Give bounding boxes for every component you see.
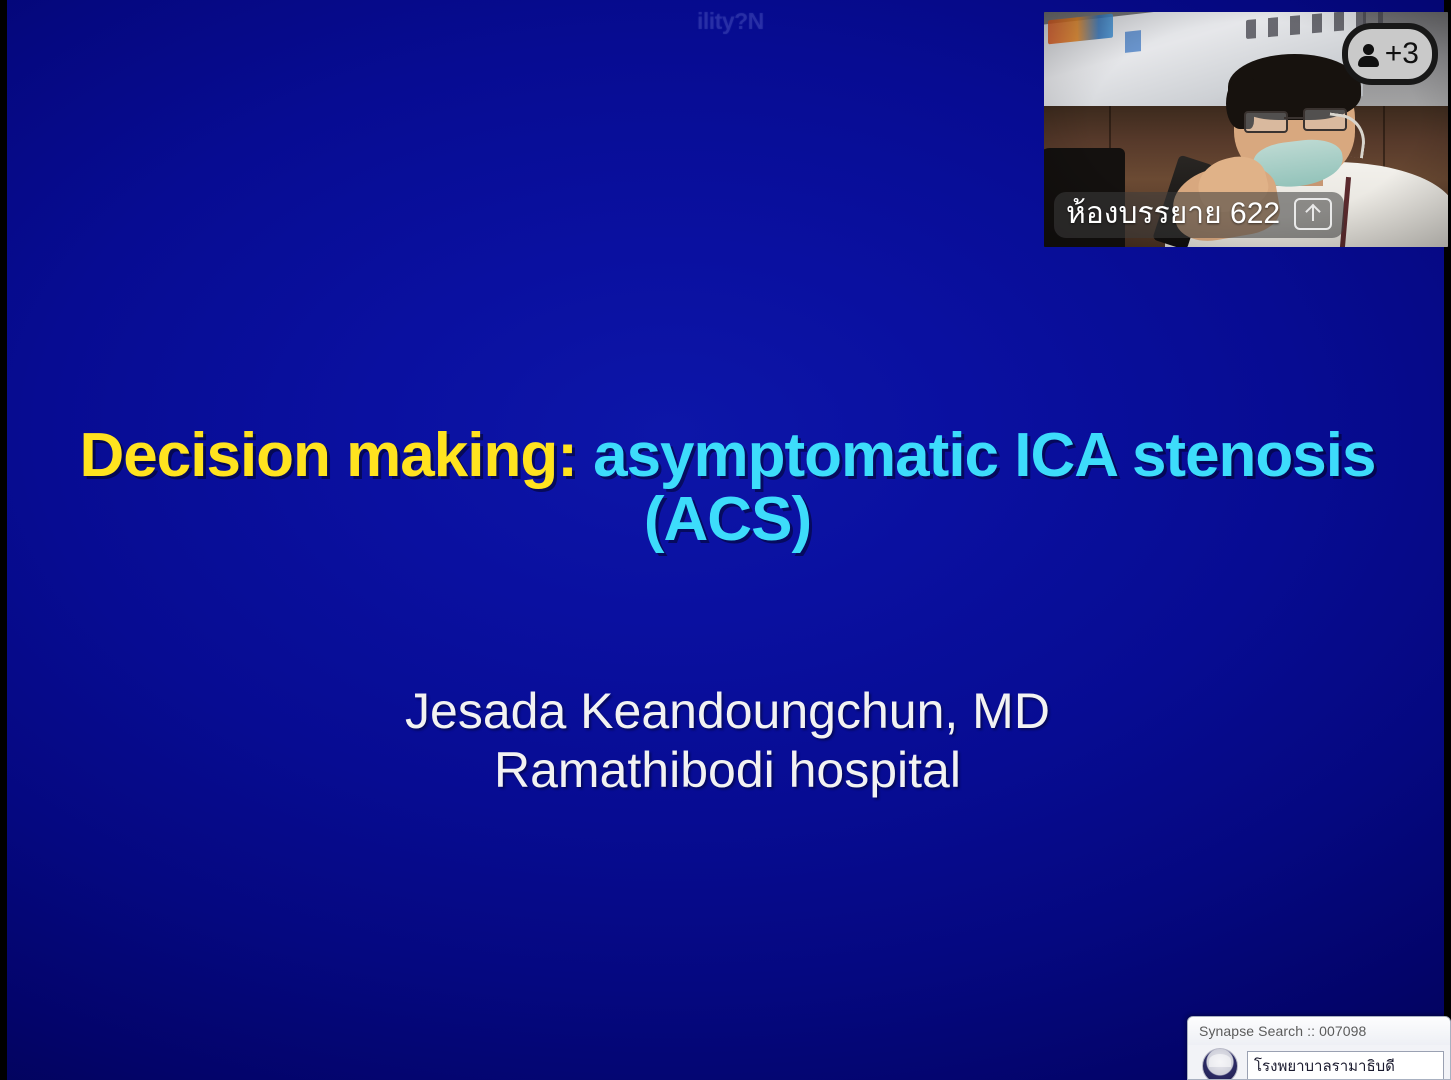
room-label-pill: ห้องบรรยาย 622	[1054, 192, 1344, 239]
organization-field[interactable]: โรงพยาบาลรามาธิบดี	[1247, 1051, 1444, 1080]
person-icon	[1358, 44, 1379, 65]
presenter-affiliation: Ramathibodi hospital	[7, 741, 1448, 800]
synapse-window-body: โรงพยาบาลรามาธิบดี	[1188, 1045, 1450, 1080]
slide-presenter-block: Jesada Keandoungchun, MD Ramathibodi hos…	[7, 682, 1448, 799]
slide-title-lead: Decision making:	[80, 421, 577, 490]
participants-badge[interactable]: +3	[1342, 23, 1438, 85]
participants-count-label: +3	[1385, 39, 1419, 69]
slide-title-highlight-line1: asymptomatic ICA stenosis	[593, 421, 1375, 490]
synapse-search-window[interactable]: Synapse Search :: 007098 โรงพยาบาลรามาธิ…	[1187, 1016, 1451, 1080]
hospital-seal-logo-icon	[1202, 1048, 1238, 1080]
video-participant-tile[interactable]: +3 ห้องบรรยาย 622	[1044, 12, 1448, 247]
organization-label: โรงพยาบาลรามาธิบดี	[1254, 1054, 1395, 1078]
arrow-up-icon[interactable]	[1294, 198, 1332, 230]
synapse-window-title: Synapse Search :: 007098	[1199, 1023, 1366, 1039]
presenter-name: Jesada Keandoungchun, MD	[7, 682, 1448, 741]
ghost-artifact-text: ility?N	[697, 8, 764, 35]
screen-root: ility?N Decision making: asymptomatic IC…	[0, 0, 1451, 1080]
slide-title: Decision making: asymptomatic ICA stenos…	[7, 424, 1448, 553]
synapse-window-titlebar[interactable]: Synapse Search :: 007098	[1188, 1017, 1450, 1045]
slide-title-highlight-line2: (ACS)	[33, 488, 1422, 552]
room-name-label: ห้องบรรยาย 622	[1066, 197, 1280, 232]
